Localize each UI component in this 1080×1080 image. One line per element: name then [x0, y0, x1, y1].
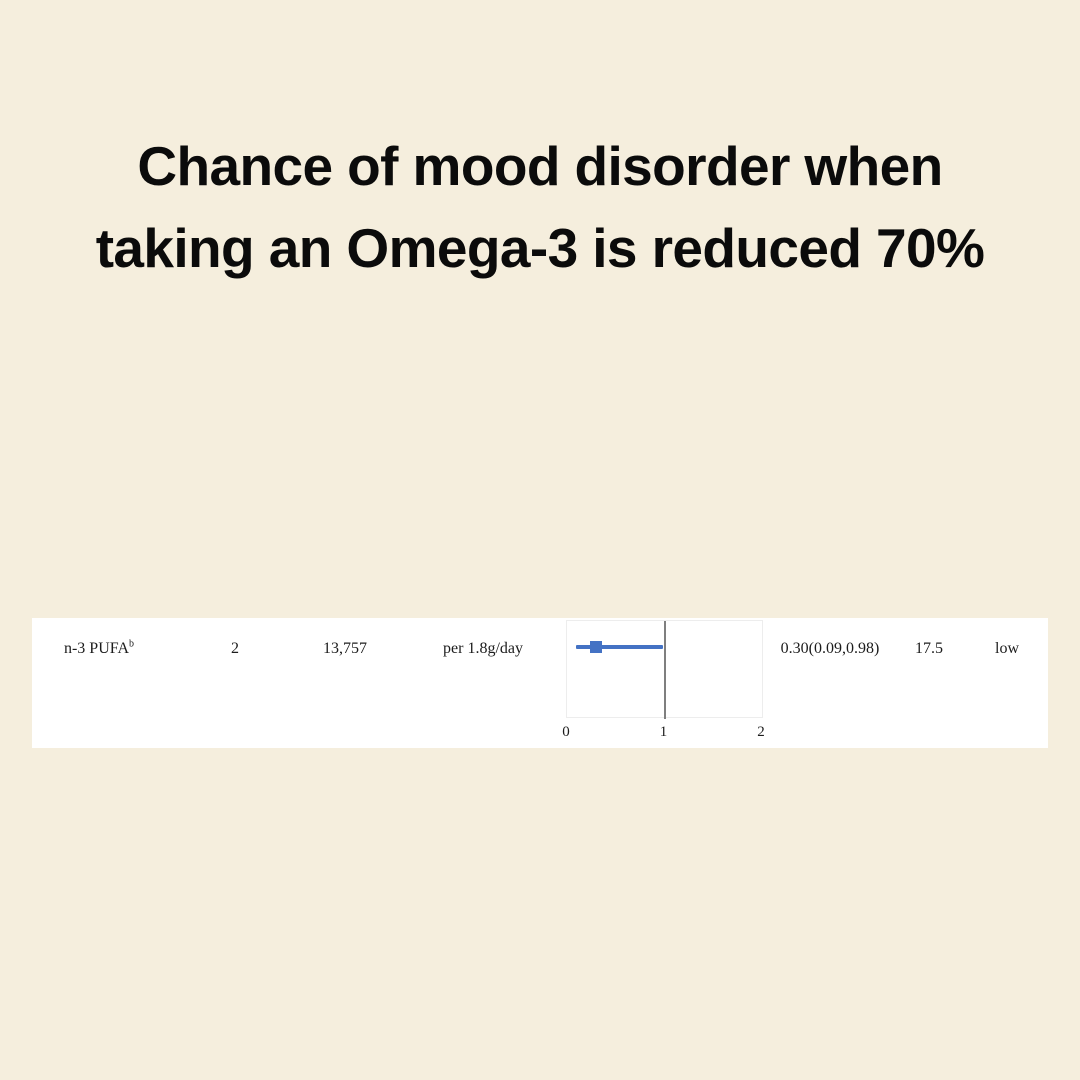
null-effect-line [664, 621, 666, 719]
x-axis-tick-1: 1 [660, 724, 668, 741]
title-line-1: Chance of mood disorder when [0, 125, 1080, 207]
point-estimate-marker [590, 641, 602, 653]
intervention-footnote-marker: b [129, 639, 134, 650]
x-axis-tick-0: 0 [562, 724, 570, 741]
confidence-interval-line [576, 645, 663, 649]
table-cell-effect-estimate: 0.30(0.09,0.98) [781, 640, 880, 658]
table-cell-certainty: low [995, 640, 1019, 658]
forest-plot-table: n-3 PUFAb 2 13,757 per 1.8g/day 0 1 2 0.… [32, 618, 1048, 748]
title-line-2: taking an Omega-3 is reduced 70% [0, 207, 1080, 289]
table-cell-participants: 13,757 [323, 640, 367, 658]
page-title: Chance of mood disorder when taking an O… [0, 125, 1080, 289]
table-cell-heterogeneity: 17.5 [915, 640, 943, 658]
table-cell-studies: 2 [231, 640, 239, 658]
table-cell-intervention: n-3 PUFAb [64, 640, 134, 658]
x-axis-tick-2: 2 [757, 724, 765, 741]
table-cell-dose: per 1.8g/day [443, 640, 523, 658]
forest-plot-panel [566, 620, 763, 718]
intervention-label: n-3 PUFA [64, 640, 129, 657]
